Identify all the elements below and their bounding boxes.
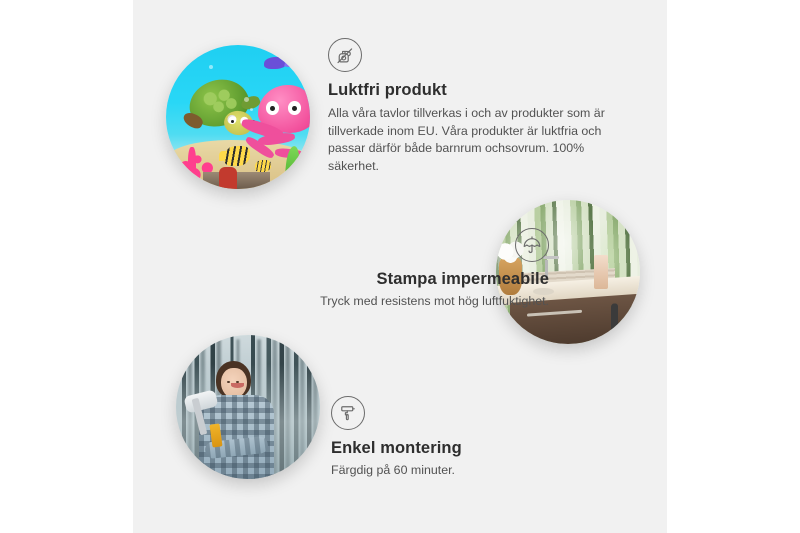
small-striped-fish [255,160,271,172]
feature-description: Tryck med resistens mot hög luftfuktighe… [213,293,549,311]
feature-easy-mounting: Enkel montering Färgdig på 60 minuter. [331,396,631,480]
bubble [244,97,249,102]
octopus-eye-right [288,101,301,114]
foreground-furniture [203,172,269,189]
feature-description: Färgdig på 60 minuter. [331,462,631,480]
octopus-eye-left [266,101,279,114]
feature-odour-free: Luktfri produkt Alla våra tavlor tillver… [328,38,628,175]
soap-dispenser [594,255,608,290]
content-panel: Luktfri produkt Alla våra tavlor tillver… [133,0,667,533]
underwater-children-mural-photo [166,45,310,189]
feature-title: Stampa impermeabile [213,270,549,289]
infographic-canvas: Luktfri produkt Alla våra tavlor tillver… [0,0,800,533]
turtle-eye-left [231,120,234,123]
striped-fish [224,146,250,166]
umbrella-icon [515,228,549,262]
feature-waterproof-print: Stampa impermeabile Tryck med resistens … [213,228,549,311]
feature-description: Alla våra tavlor tillverkas i och av pro… [328,105,620,175]
feature-title: Enkel montering [331,439,631,458]
feature-title: Luktfri produkt [328,81,628,100]
woman-with-paint-roller-photo [176,335,320,479]
paint-roller-icon [331,396,365,430]
no-fragrance-icon [328,38,362,72]
